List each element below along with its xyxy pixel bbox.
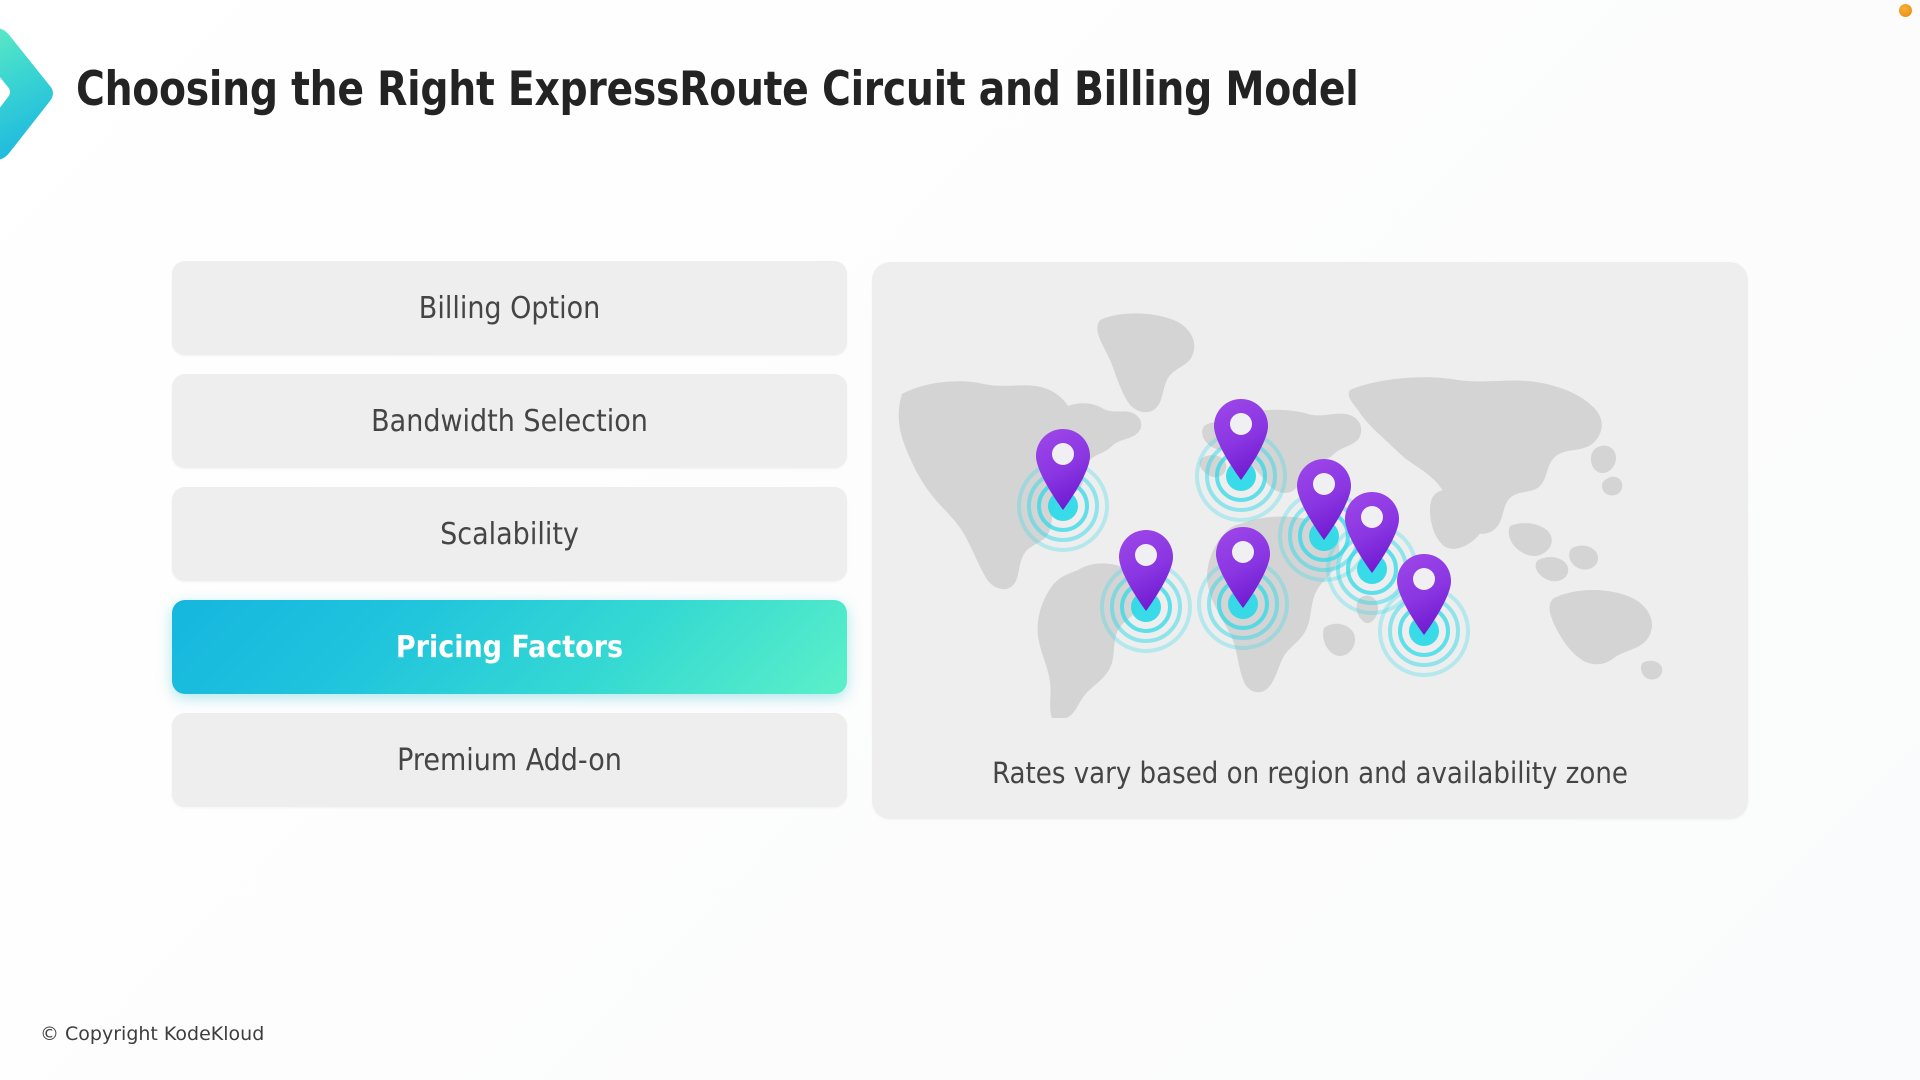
slide-root: Choosing the Right ExpressRoute Circuit … [0,0,1920,1080]
map-landmasses [899,313,1663,718]
option-item-premium-add-on[interactable]: Premium Add-on [172,713,847,807]
world-map [872,298,1748,718]
option-label: Billing Option [419,291,600,326]
map-pin-icon-australia[interactable] [1380,554,1468,675]
option-item-bandwidth-selection[interactable]: Bandwidth Selection [172,374,847,468]
map-caption: Rates vary based on region and availabil… [872,756,1748,790]
option-item-pricing-factors[interactable]: Pricing Factors [172,600,847,694]
footer-copyright: © Copyright KodeKloud [40,1023,264,1045]
chevron-logo-icon [0,26,58,161]
option-label: Scalability [440,517,579,552]
option-label: Pricing Factors [396,630,623,665]
options-list: Billing Option Bandwidth Selection Scala… [172,261,847,807]
option-item-billing-option[interactable]: Billing Option [172,261,847,355]
page-title: Choosing the Right ExpressRoute Circuit … [76,62,1358,117]
option-item-scalability[interactable]: Scalability [172,487,847,581]
map-panel: Rates vary based on region and availabil… [872,262,1748,819]
option-label: Bandwidth Selection [371,404,648,439]
status-dot-icon [1899,4,1912,17]
option-label: Premium Add-on [397,743,622,778]
